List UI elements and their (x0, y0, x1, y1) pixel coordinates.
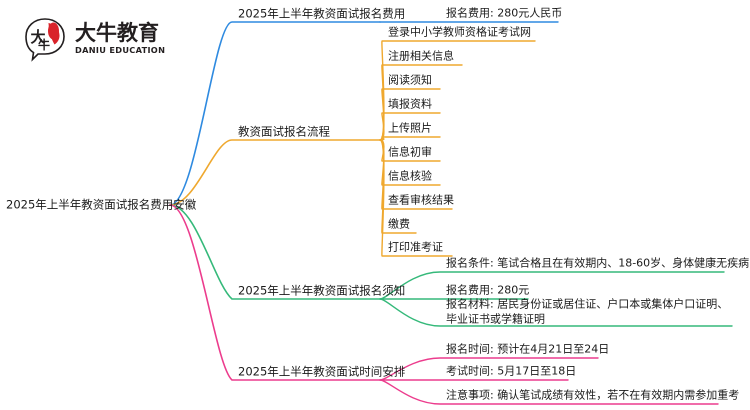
mindmap-node-level2[interactable]: 2025年上半年教资面试报名费用 (238, 6, 405, 21)
mindmap-root-node[interactable]: 2025年上半年教资面试报名费用安徽 (6, 197, 196, 212)
mindmap-node-level3[interactable]: 填报资料 (388, 98, 432, 113)
mindmap-node-level3[interactable]: 信息初审 (388, 146, 432, 161)
mindmap-node-level3[interactable]: 报名费用: 280元 (446, 284, 529, 299)
mindmap-node-level3[interactable]: 注册相关信息 (388, 50, 454, 65)
mindmap-node-level3[interactable]: 考试时间: 5月17日至18日 (446, 365, 576, 380)
svg-text:牛: 牛 (38, 37, 50, 52)
logo-mark-icon: 大 牛 (22, 16, 68, 62)
mindmap-node-level3[interactable]: 报名费用: 280元人民币 (446, 7, 562, 22)
brand-logo: 大 牛 大牛教育 DANIU EDUCATION (22, 16, 165, 62)
mindmap-node-level3[interactable]: 信息核验 (388, 170, 432, 185)
logo-english-name: DANIU EDUCATION (75, 46, 165, 54)
mindmap-node-level3[interactable]: 报名时间: 预计在4月21日至24日 (446, 343, 609, 358)
mindmap-node-level3[interactable]: 报名条件: 笔试合格且在有效期内、18-60岁、身体健康无疾病 (446, 257, 749, 272)
mindmap-node-level3[interactable]: 报名材料: 居民身份证或居住证、户口本或集体户口证明、毕业证书或学籍证明 (446, 297, 738, 326)
mindmap-node-level3[interactable]: 上传照片 (388, 122, 432, 137)
mindmap-node-level3[interactable]: 打印准考证 (388, 241, 443, 256)
mindmap-node-level3[interactable]: 查看审核结果 (388, 194, 454, 209)
logo-chinese-name: 大牛教育 (75, 23, 165, 44)
mindmap-node-level3[interactable]: 阅读须知 (388, 74, 432, 89)
mindmap-node-level3[interactable]: 缴费 (388, 218, 410, 233)
mindmap-node-level3[interactable]: 登录中小学教师资格证考试网 (388, 26, 531, 41)
mindmap-node-level2[interactable]: 2025年上半年教资面试报名须知 (238, 283, 405, 298)
mindmap-canvas: 大 牛 大牛教育 DANIU EDUCATION 2025年上半年教资面试报名费… (0, 0, 750, 410)
mindmap-node-level3[interactable]: 注意事项: 确认笔试成绩有效性，若不在有效期内需参加重考 (446, 389, 739, 404)
mindmap-node-level2[interactable]: 2025年上半年教资面试时间安排 (238, 364, 405, 379)
mindmap-node-level2[interactable]: 教资面试报名流程 (238, 124, 330, 139)
